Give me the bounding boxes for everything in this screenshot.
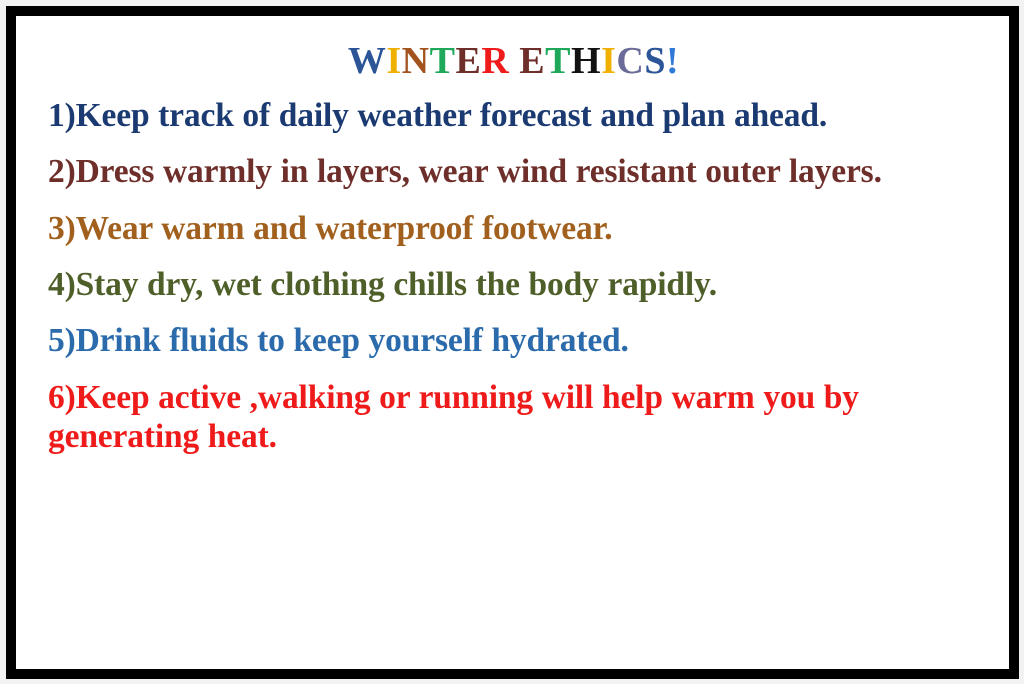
- winter-ethics-list: 1)Keep track of daily weather forecast a…: [46, 96, 981, 457]
- poster-frame: WINTER ETHICS! 1)Keep track of daily wea…: [0, 0, 1024, 684]
- title-letter-w-0: W: [348, 40, 387, 82]
- title-letter-t-3: T: [430, 40, 456, 82]
- list-item: 6)Keep active ,walking or running will h…: [46, 378, 981, 457]
- title-letter-i-1: I: [386, 40, 401, 82]
- page-title: WINTER ETHICS!: [46, 42, 981, 82]
- title-letter-i-10: I: [601, 40, 616, 82]
- poster-border: WINTER ETHICS! 1)Keep track of daily wea…: [6, 6, 1019, 679]
- title-letter-e-4: E: [455, 40, 481, 82]
- title-letter-h-9: H: [571, 40, 601, 82]
- title-letter-e-7: E: [519, 40, 545, 82]
- list-item: 4)Stay dry, wet clothing chills the body…: [46, 265, 981, 304]
- list-item: 5)Drink fluids to keep yourself hydrated…: [46, 321, 981, 360]
- title-letter-n-2: N: [402, 40, 430, 82]
- title-letter-t-8: T: [545, 40, 571, 82]
- list-item: 3)Wear warm and waterproof footwear.: [46, 209, 981, 248]
- poster-content: WINTER ETHICS! 1)Keep track of daily wea…: [16, 16, 1009, 669]
- title-space: [509, 40, 519, 82]
- title-letter-r-5: R: [481, 40, 509, 82]
- list-item: 1)Keep track of daily weather forecast a…: [46, 96, 981, 135]
- title-letter-c-11: C: [616, 40, 644, 82]
- title-letter-s-12: S: [644, 40, 666, 82]
- title-letter-!-13: !: [666, 40, 679, 82]
- list-item: 2)Dress warmly in layers, wear wind resi…: [46, 152, 981, 191]
